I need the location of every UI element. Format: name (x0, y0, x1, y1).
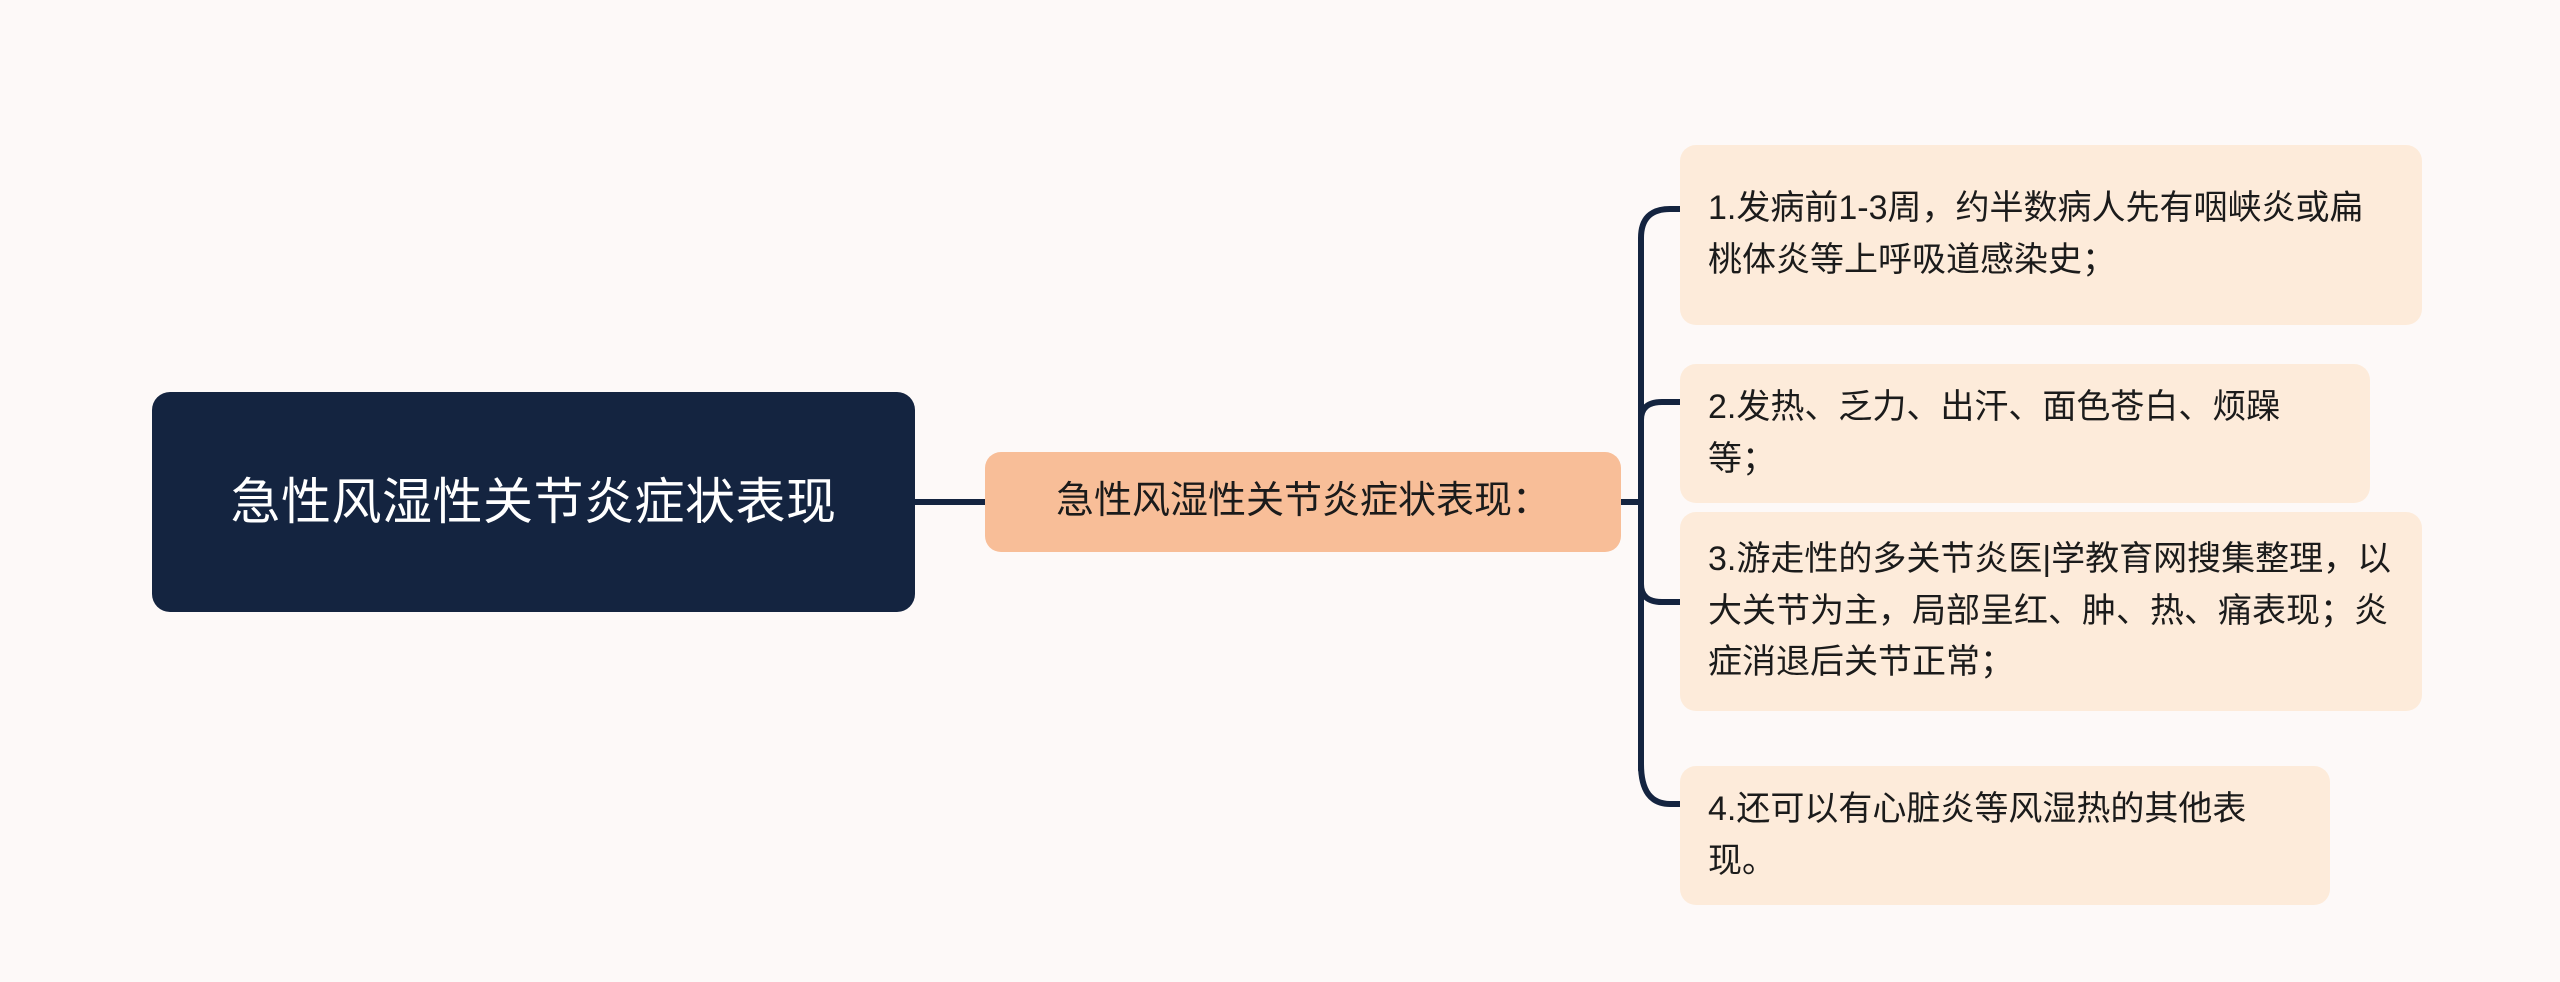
root-node[interactable]: 急性风湿性关节炎症状表现 (152, 392, 915, 612)
connector-spine-to-leaf-2 (1641, 402, 1680, 420)
connector-spine-to-leaf-4 (1641, 764, 1680, 804)
leaf-node-3-label: 3.游走性的多关节炎医|学教育网搜集整理，以大关节为主，局部呈红、肿、热、痛表现… (1708, 534, 2394, 689)
branch-node-label: 急性风湿性关节炎症状表现： (1056, 477, 1550, 526)
root-node-label: 急性风湿性关节炎症状表现 (231, 469, 837, 536)
leaf-node-1-label: 1.发病前1-3周，约半数病人先有咽峡炎或扁桃体炎等上呼吸道感染史； (1708, 183, 2394, 286)
leaf-node-4[interactable]: 4.还可以有心脏炎等风湿热的其他表现。 (1680, 766, 2330, 905)
mindmap-canvas: 急性风湿性关节炎症状表现 急性风湿性关节炎症状表现： 1.发病前1-3周，约半数… (0, 0, 2560, 982)
leaf-node-2-label: 2.发热、乏力、出汗、面色苍白、烦躁等； (1708, 382, 2342, 485)
connector-spine-to-leaf-3 (1641, 584, 1680, 602)
leaf-node-4-label: 4.还可以有心脏炎等风湿热的其他表现。 (1708, 784, 2302, 887)
leaf-node-3[interactable]: 3.游走性的多关节炎医|学教育网搜集整理，以大关节为主，局部呈红、肿、热、痛表现… (1680, 512, 2422, 711)
connector-spine-to-leaf-1 (1641, 209, 1680, 246)
branch-node[interactable]: 急性风湿性关节炎症状表现： (985, 452, 1621, 552)
leaf-node-2[interactable]: 2.发热、乏力、出汗、面色苍白、烦躁等； (1680, 364, 2370, 503)
leaf-node-1[interactable]: 1.发病前1-3周，约半数病人先有咽峡炎或扁桃体炎等上呼吸道感染史； (1680, 145, 2422, 325)
